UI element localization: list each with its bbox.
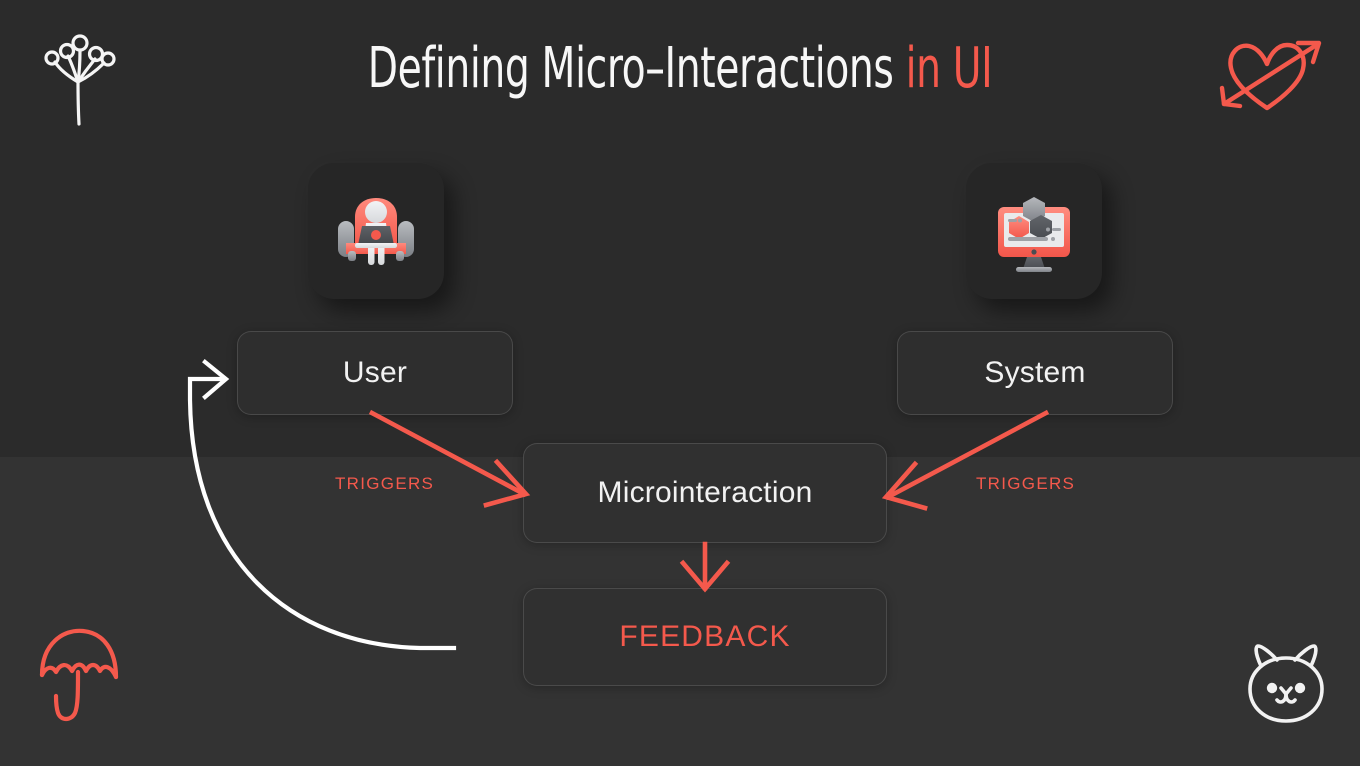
desktop-monitor-hexagons-icon (986, 183, 1082, 279)
page-title-accent: in UI (906, 36, 993, 101)
node-system[interactable]: System (897, 331, 1173, 415)
edge-label-left-triggers: TRIGGERS (335, 474, 434, 494)
umbrella-icon (36, 620, 136, 730)
slide-canvas: Defining Micro–Interactions in UI (0, 0, 1360, 766)
user-icon-card (308, 163, 444, 299)
node-microinteraction-label: Microinteraction (598, 476, 813, 510)
node-system-label: System (984, 356, 1085, 390)
edge-label-right-triggers: TRIGGERS (976, 474, 1075, 494)
heart-arrow-icon (1216, 30, 1328, 120)
cat-face-icon (1240, 640, 1332, 730)
person-on-couch-with-laptop-icon (328, 183, 424, 279)
flower-sprig-icon (38, 28, 120, 126)
node-microinteraction[interactable]: Microinteraction (523, 443, 887, 543)
page-title-main: Defining Micro–Interactions (368, 36, 906, 101)
page-title: Defining Micro–Interactions in UI (150, 40, 1211, 99)
node-feedback-label: FEEDBACK (619, 620, 790, 654)
system-icon-card (966, 163, 1102, 299)
node-user-label: User (343, 356, 407, 390)
node-user[interactable]: User (237, 331, 513, 415)
node-feedback[interactable]: FEEDBACK (523, 588, 887, 686)
